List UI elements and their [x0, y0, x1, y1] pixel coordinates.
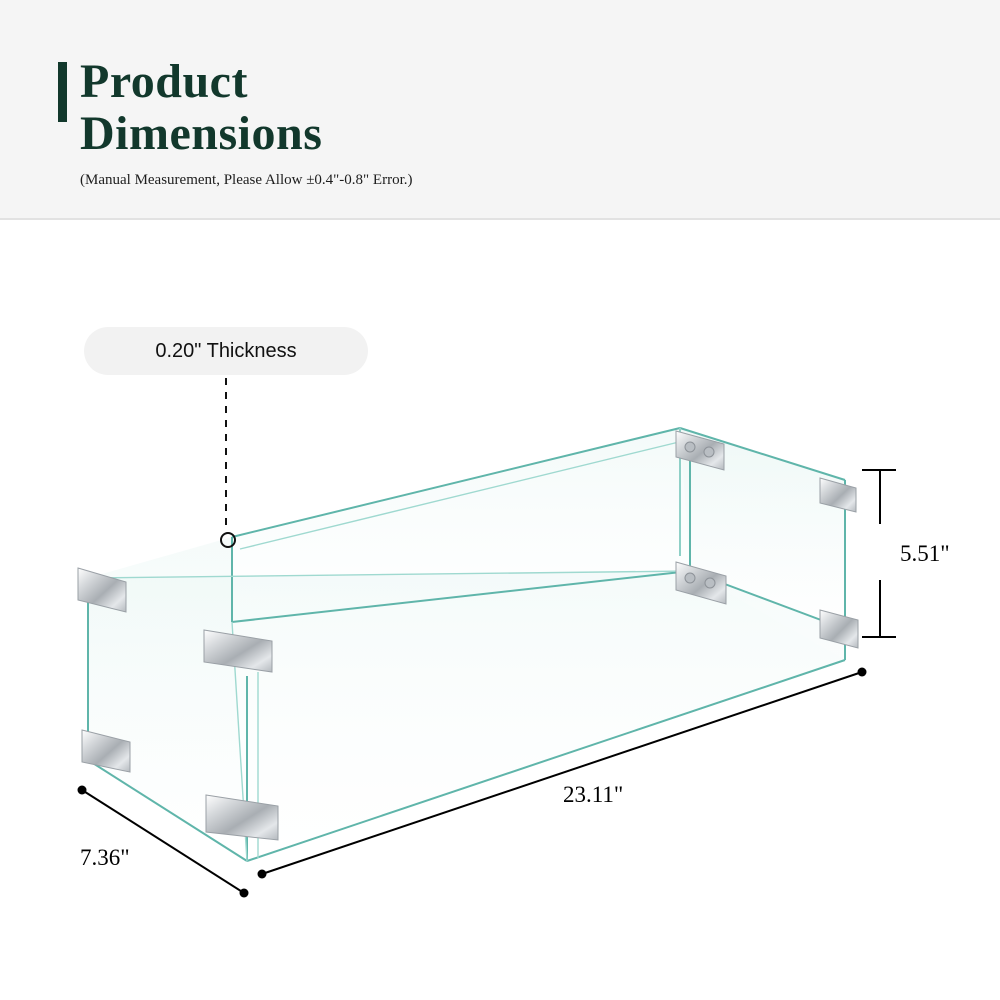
- thickness-callout-label: 0.20" Thickness: [155, 340, 296, 363]
- thickness-leader-line: [221, 378, 235, 547]
- page-title: Product Dimensions: [80, 56, 600, 160]
- corner-brackets: [78, 431, 858, 840]
- thickness-callout: 0.20" Thickness: [84, 327, 368, 375]
- dimension-lines: [82, 470, 896, 893]
- glass-edges: [88, 428, 845, 861]
- glass-panels: [88, 428, 845, 861]
- dimension-label-depth: 7.36": [80, 845, 130, 871]
- dimension-label-height: 5.51": [900, 541, 950, 567]
- dimension-endpoints: [78, 668, 867, 898]
- title-accent-bar: [58, 62, 67, 122]
- dimension-diagram-page: Product Dimensions (Manual Measurement, …: [0, 0, 1000, 1000]
- header-divider: [0, 218, 1000, 220]
- dimension-label-length: 23.11": [563, 782, 623, 808]
- measurement-note: (Manual Measurement, Please Allow ±0.4"-…: [80, 172, 412, 189]
